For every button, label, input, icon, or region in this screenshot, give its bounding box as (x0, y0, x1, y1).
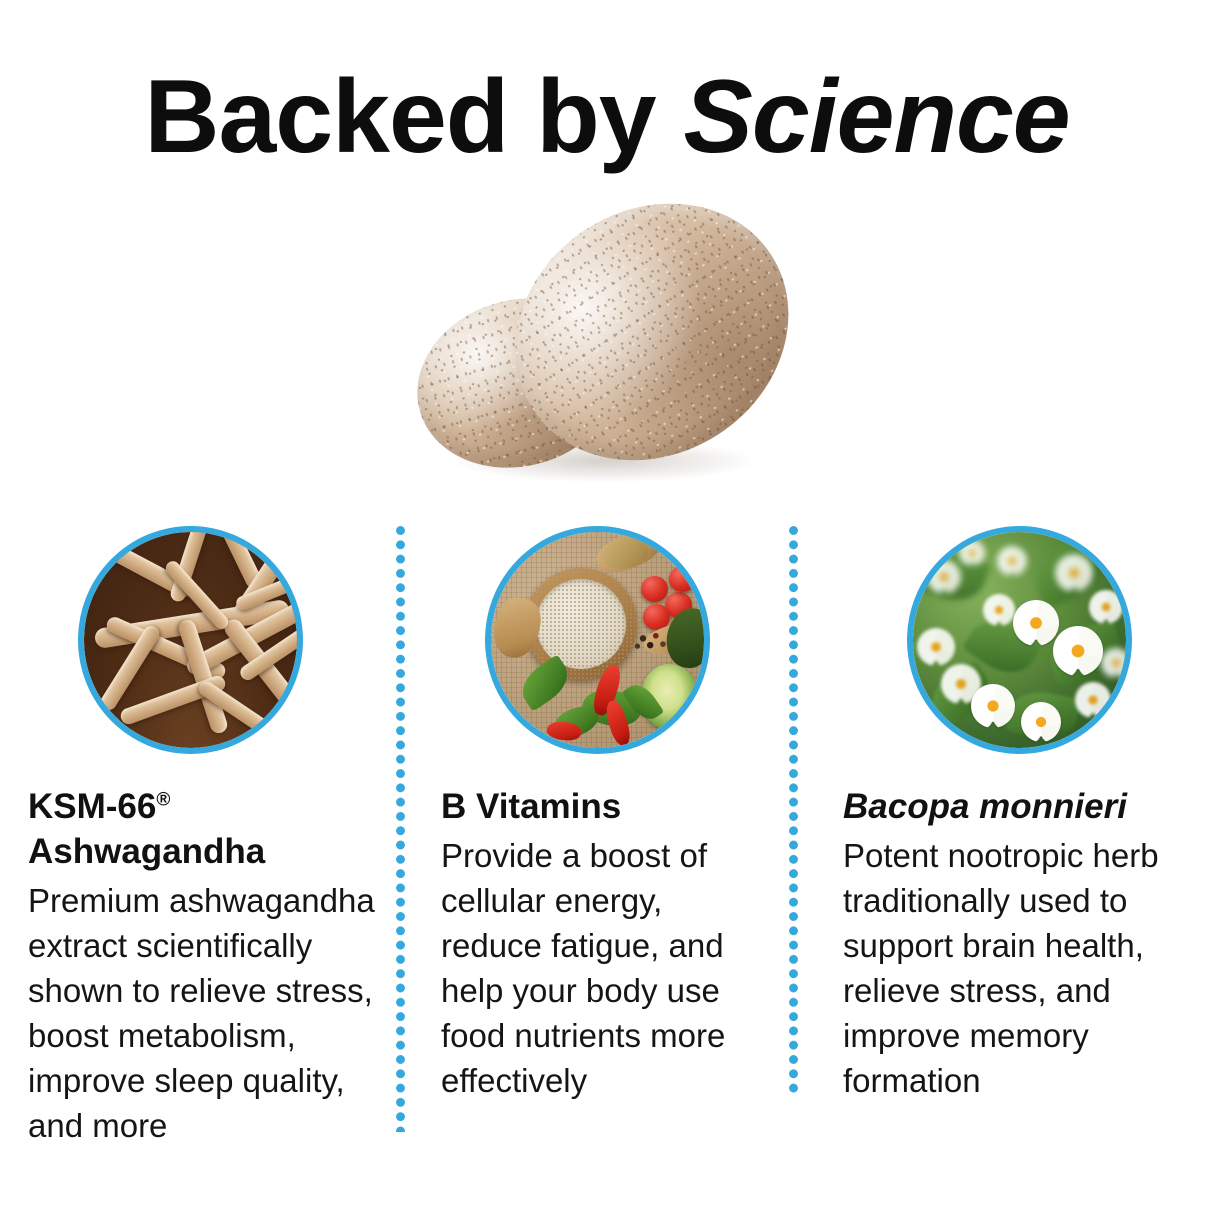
column-3-heading: Bacopa monnieri (843, 784, 1188, 829)
column-bacopa-monnieri: Bacopa monnieri Potent nootropic herb tr… (843, 526, 1188, 1103)
column-ksm-66-ashwagandha: KSM-66® Ashwagandha Premium ashwagandha … (28, 526, 378, 1148)
ashwagandha-roots-scene (84, 532, 297, 748)
column-1-heading-line-2: Ashwagandha (28, 832, 265, 871)
registered-trademark-icon: ® (156, 789, 170, 810)
healthy-foods-scene (491, 532, 704, 748)
ashwagandha-roots-image-inner (84, 532, 297, 748)
bacopa-flowers-scene (913, 532, 1126, 748)
page-title: Backed by Science (0, 62, 1214, 172)
bacopa-flowers-photo (907, 526, 1132, 754)
column-2-heading: B Vitamins (441, 784, 771, 829)
column-1-body: Premium ashwagandha extract scientifical… (28, 878, 378, 1148)
column-2-body: Provide a boost of cellular energy, redu… (441, 833, 771, 1103)
column-1-heading: KSM-66® Ashwagandha (28, 784, 378, 874)
column-divider-2 (789, 526, 798, 1096)
healthy-foods-image-inner (491, 532, 704, 748)
infographic-canvas: Backed by Science (0, 0, 1214, 1214)
column-3-body: Potent nootropic herb traditionally used… (843, 833, 1188, 1103)
column-divider-1 (396, 526, 405, 1132)
page-title-regular: Backed by (144, 59, 683, 175)
column-3-heading-line-1: Bacopa monnieri (843, 787, 1127, 826)
bacopa-flowers-image-inner (913, 532, 1126, 748)
column-b-vitamins: B Vitamins Provide a boost of cellular e… (441, 526, 771, 1103)
page-title-italic: Science (684, 59, 1070, 175)
ashwagandha-roots-photo (78, 526, 303, 754)
supplement-tablets-photo (410, 196, 804, 496)
column-1-heading-line-1: KSM-66 (28, 787, 156, 826)
column-2-heading-line-1: B Vitamins (441, 787, 621, 826)
healthy-foods-flatlay-photo (485, 526, 710, 754)
